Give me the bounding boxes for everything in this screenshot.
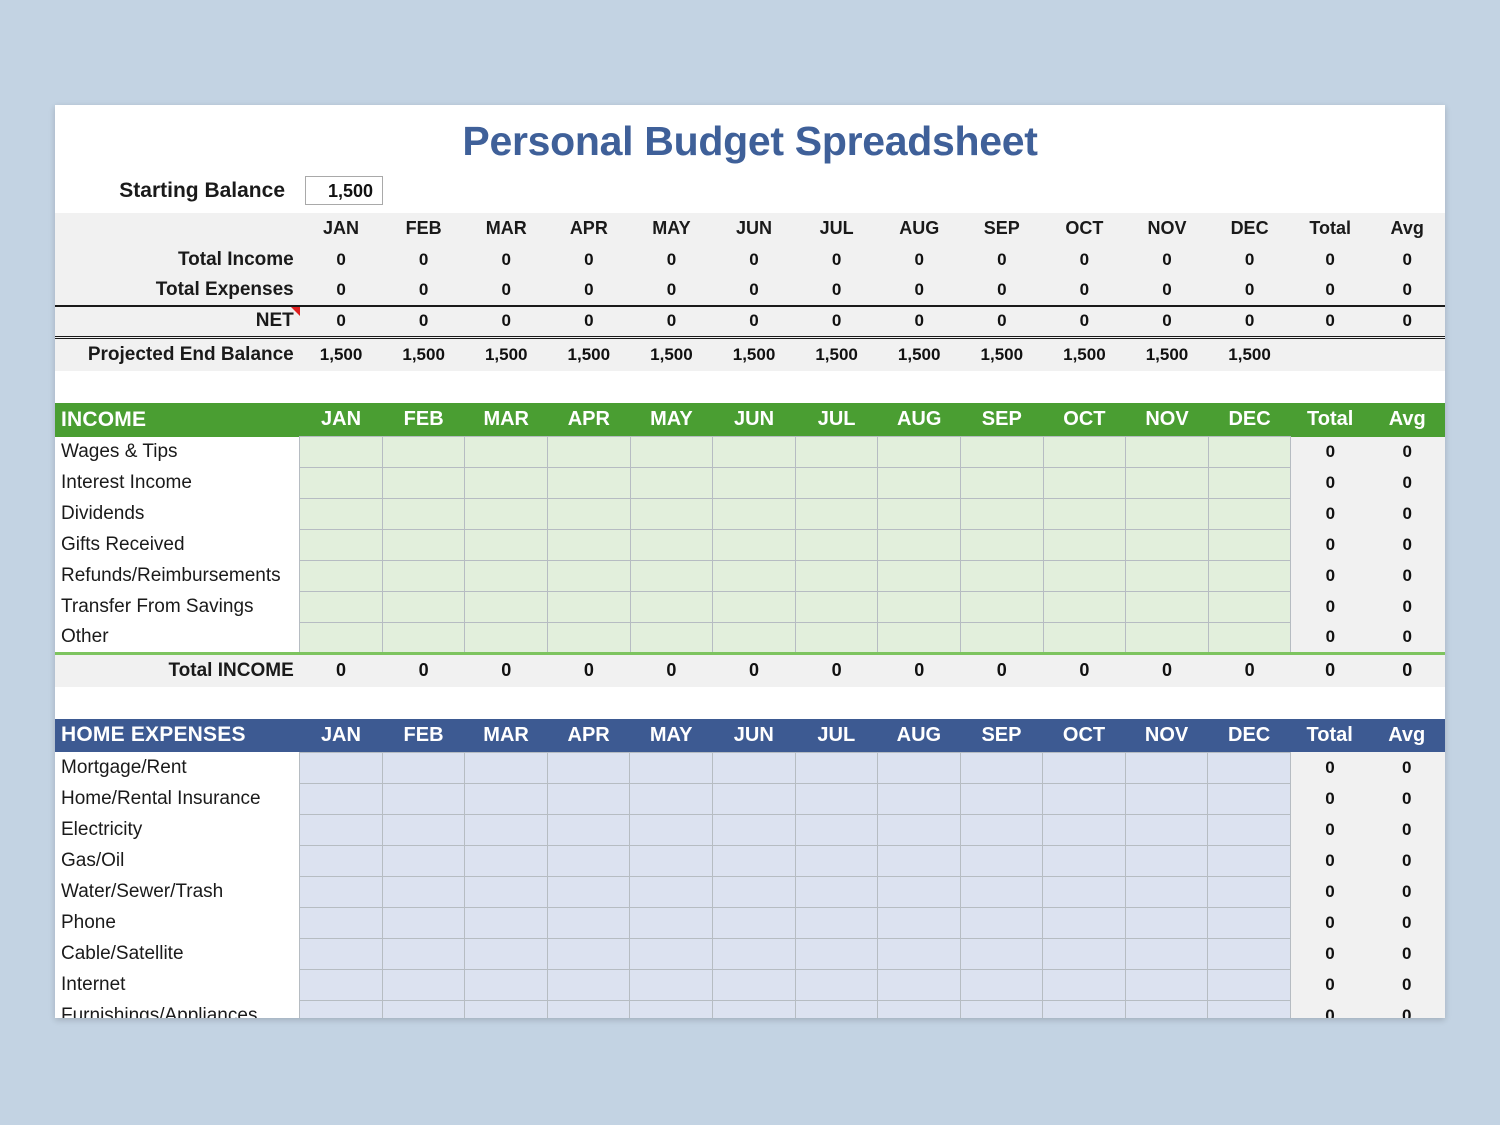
home-expenses-header-nov: NOV — [1125, 719, 1208, 753]
income-input-dec[interactable] — [1208, 499, 1291, 530]
home-expenses-input-nov[interactable] — [1125, 969, 1208, 1000]
home-expenses-input-jul[interactable] — [795, 938, 878, 969]
home-expenses-input-sep[interactable] — [960, 907, 1043, 938]
home-expenses-row-total: 0 — [1290, 969, 1369, 1000]
income-input-may[interactable] — [630, 592, 713, 623]
home-expenses-input-jul[interactable] — [795, 845, 878, 876]
income-input-aug[interactable] — [878, 592, 961, 623]
home-expenses-row-label: Cable/Satellite — [55, 938, 300, 969]
home-expenses-input-jun[interactable] — [712, 814, 795, 845]
income-input-jan[interactable] — [300, 468, 383, 499]
home-expenses-input-dec[interactable] — [1208, 783, 1291, 814]
income-input-oct[interactable] — [1043, 561, 1126, 592]
summary-cell-oct: 0 — [1043, 306, 1126, 337]
income-input-jun[interactable] — [713, 561, 796, 592]
income-total-label: Total INCOME — [55, 654, 300, 687]
summary-cell-avg: 0 — [1369, 275, 1445, 306]
home-expenses-input-feb[interactable] — [382, 876, 465, 907]
page-title: Personal Budget Spreadsheet — [55, 105, 1445, 171]
income-header-nov: NOV — [1126, 403, 1209, 437]
home-expenses-input-feb[interactable] — [382, 845, 465, 876]
table-row: Gifts Received00 — [55, 530, 1445, 561]
home-expenses-row-avg: 0 — [1369, 969, 1445, 1000]
home-expenses-input-nov[interactable] — [1125, 845, 1208, 876]
home-expenses-header-may: MAY — [630, 719, 713, 753]
home-expenses-input-may[interactable] — [630, 907, 713, 938]
home-expenses-input-may[interactable] — [630, 845, 713, 876]
income-input-mar[interactable] — [465, 530, 548, 561]
income-header-apr: APR — [548, 403, 631, 437]
home-expenses-row-total: 0 — [1290, 845, 1369, 876]
income-input-feb[interactable] — [382, 530, 465, 561]
home-expenses-input-nov[interactable] — [1125, 907, 1208, 938]
home-expenses-input-aug[interactable] — [878, 876, 961, 907]
income-input-jun[interactable] — [713, 437, 796, 468]
home-expenses-input-apr[interactable] — [547, 907, 630, 938]
home-expenses-input-oct[interactable] — [1043, 814, 1126, 845]
summary-cell-feb: 0 — [382, 306, 465, 337]
home-expenses-input-sep[interactable] — [960, 876, 1043, 907]
summary-cell-jul: 1,500 — [795, 337, 878, 371]
income-input-mar[interactable] — [465, 623, 548, 654]
income-input-jan[interactable] — [300, 499, 383, 530]
home-expenses-input-oct[interactable] — [1043, 876, 1126, 907]
income-input-oct[interactable] — [1043, 499, 1126, 530]
summary-row-total-income: Total Income00000000000000 — [55, 244, 1445, 275]
home-expenses-input-nov[interactable] — [1125, 783, 1208, 814]
home-expenses-input-jun[interactable] — [712, 938, 795, 969]
income-input-apr[interactable] — [548, 530, 631, 561]
avg-header: Avg — [1369, 213, 1445, 244]
income-header-may: MAY — [630, 403, 713, 437]
home-expenses-input-dec[interactable] — [1208, 814, 1291, 845]
summary-cell-feb: 1,500 — [382, 337, 465, 371]
income-row-label: Wages & Tips — [55, 437, 300, 468]
income-input-jan[interactable] — [300, 437, 383, 468]
income-row-avg: 0 — [1369, 437, 1445, 468]
income-input-mar[interactable] — [465, 437, 548, 468]
income-input-aug[interactable] — [878, 561, 961, 592]
income-input-dec[interactable] — [1208, 468, 1291, 499]
home-expenses-header-sep: SEP — [960, 719, 1043, 753]
income-input-oct[interactable] — [1043, 530, 1126, 561]
home-expenses-input-apr[interactable] — [547, 783, 630, 814]
income-input-sep[interactable] — [961, 623, 1044, 654]
income-input-apr[interactable] — [548, 592, 631, 623]
table-row: Dividends00 — [55, 499, 1445, 530]
income-header-total: Total — [1291, 403, 1370, 437]
home-expenses-input-mar[interactable] — [465, 969, 548, 1000]
income-input-dec[interactable] — [1208, 592, 1291, 623]
home-expenses-input-may[interactable] — [630, 969, 713, 1000]
home-expenses-row-total: 0 — [1290, 752, 1369, 783]
home-expenses-input-may[interactable] — [630, 876, 713, 907]
home-expenses-input-aug[interactable] — [878, 969, 961, 1000]
home-expenses-input-jul[interactable] — [795, 876, 878, 907]
home-expenses-input-sep[interactable] — [960, 814, 1043, 845]
home-expenses-input-feb[interactable] — [382, 969, 465, 1000]
home-expenses-input-sep[interactable] — [960, 938, 1043, 969]
income-total-sum: 0 — [1291, 654, 1370, 687]
income-input-jul[interactable] — [795, 499, 878, 530]
income-input-oct[interactable] — [1043, 592, 1126, 623]
home-expenses-section: HOME EXPENSESJANFEBMARAPRMAYJUNJULAUGSEP… — [55, 719, 1445, 1019]
income-input-jul[interactable] — [795, 530, 878, 561]
home-expenses-row-total: 0 — [1290, 876, 1369, 907]
home-expenses-input-feb[interactable] — [382, 783, 465, 814]
home-expenses-row-avg: 0 — [1369, 783, 1445, 814]
home-expenses-input-nov[interactable] — [1125, 1000, 1208, 1018]
income-input-nov[interactable] — [1126, 623, 1209, 654]
home-expenses-input-mar[interactable] — [465, 876, 548, 907]
income-input-nov[interactable] — [1126, 561, 1209, 592]
income-input-jan[interactable] — [300, 592, 383, 623]
home-expenses-input-apr[interactable] — [547, 1000, 630, 1018]
home-expenses-header-oct: OCT — [1043, 719, 1126, 753]
summary-cell-may: 0 — [630, 275, 713, 306]
home-expenses-input-mar[interactable] — [465, 1000, 548, 1018]
table-row: Water/Sewer/Trash00 — [55, 876, 1445, 907]
home-expenses-input-jan[interactable] — [300, 783, 383, 814]
summary-row-total-expenses: Total Expenses00000000000000 — [55, 275, 1445, 306]
income-total-sep: 0 — [961, 654, 1044, 687]
home-expenses-input-sep[interactable] — [960, 845, 1043, 876]
income-input-jul[interactable] — [795, 561, 878, 592]
table-row: Phone00 — [55, 907, 1445, 938]
income-input-feb[interactable] — [382, 468, 465, 499]
income-table: INCOMEJANFEBMARAPRMAYJUNJULAUGSEPOCTNOVD… — [55, 403, 1445, 687]
income-row-avg: 0 — [1369, 530, 1445, 561]
income-input-aug[interactable] — [878, 623, 961, 654]
section-gap-2 — [55, 687, 1445, 719]
summary-cell-apr: 1,500 — [548, 337, 631, 371]
summary-cell-jun: 0 — [713, 275, 796, 306]
summary-cell-jun: 1,500 — [713, 337, 796, 371]
home-expenses-input-oct[interactable] — [1043, 845, 1126, 876]
home-expenses-row-label: Mortgage/Rent — [55, 752, 300, 783]
income-header-title: INCOME — [55, 403, 300, 437]
home-expenses-row-label: Home/Rental Insurance — [55, 783, 300, 814]
income-total-apr: 0 — [548, 654, 631, 687]
home-expenses-input-oct[interactable] — [1043, 783, 1126, 814]
home-expenses-input-jun[interactable] — [712, 752, 795, 783]
summary-cell-sep: 1,500 — [961, 337, 1044, 371]
table-row: Transfer From Savings00 — [55, 592, 1445, 623]
income-input-mar[interactable] — [465, 468, 548, 499]
home-expenses-input-jul[interactable] — [795, 907, 878, 938]
income-input-aug[interactable] — [878, 437, 961, 468]
home-expenses-input-may[interactable] — [630, 938, 713, 969]
income-total-avg: 0 — [1369, 654, 1445, 687]
home-expenses-input-mar[interactable] — [465, 783, 548, 814]
income-input-sep[interactable] — [961, 468, 1044, 499]
income-input-jan[interactable] — [300, 561, 383, 592]
home-expenses-input-oct[interactable] — [1043, 907, 1126, 938]
table-row: Gas/Oil00 — [55, 845, 1445, 876]
home-expenses-input-oct[interactable] — [1043, 969, 1126, 1000]
summary-cell-may: 1,500 — [630, 337, 713, 371]
income-header-aug: AUG — [878, 403, 961, 437]
income-input-may[interactable] — [630, 499, 713, 530]
home-expenses-row-label: Furnishings/Appliances — [55, 1000, 300, 1018]
summary-cell-jul: 0 — [795, 306, 878, 337]
income-input-jul[interactable] — [795, 592, 878, 623]
summary-cell-aug: 0 — [878, 306, 961, 337]
home-expenses-input-dec[interactable] — [1208, 969, 1291, 1000]
home-expenses-header-title: HOME EXPENSES — [55, 719, 300, 753]
month-header-sep: SEP — [961, 213, 1044, 244]
table-row: Wages & Tips00 — [55, 437, 1445, 468]
income-input-oct[interactable] — [1043, 468, 1126, 499]
starting-balance-row: Starting Balance 1,500 — [55, 171, 1445, 213]
income-input-aug[interactable] — [878, 530, 961, 561]
home-expenses-input-jul[interactable] — [795, 814, 878, 845]
income-input-oct[interactable] — [1043, 437, 1126, 468]
home-expenses-input-feb[interactable] — [382, 752, 465, 783]
income-input-sep[interactable] — [961, 561, 1044, 592]
home-expenses-input-jan[interactable] — [300, 1000, 383, 1018]
income-input-jan[interactable] — [300, 623, 383, 654]
home-expenses-input-sep[interactable] — [960, 752, 1043, 783]
income-input-may[interactable] — [630, 437, 713, 468]
income-input-sep[interactable] — [961, 499, 1044, 530]
home-expenses-input-may[interactable] — [630, 1000, 713, 1018]
income-input-oct[interactable] — [1043, 623, 1126, 654]
home-expenses-header-dec: DEC — [1208, 719, 1291, 753]
home-expenses-input-jun[interactable] — [712, 876, 795, 907]
summary-row-label: NET — [55, 306, 300, 337]
home-expenses-row-label: Water/Sewer/Trash — [55, 876, 300, 907]
income-input-may[interactable] — [630, 530, 713, 561]
summary-cell-apr: 0 — [548, 306, 631, 337]
home-expenses-input-nov[interactable] — [1125, 752, 1208, 783]
starting-balance-input[interactable]: 1,500 — [305, 176, 383, 205]
home-expenses-input-dec[interactable] — [1208, 907, 1291, 938]
home-expenses-input-dec[interactable] — [1208, 938, 1291, 969]
income-input-feb[interactable] — [382, 499, 465, 530]
income-input-sep[interactable] — [961, 592, 1044, 623]
home-expenses-input-apr[interactable] — [547, 845, 630, 876]
home-expenses-input-may[interactable] — [630, 783, 713, 814]
summary-cell-may: 0 — [630, 244, 713, 275]
income-input-sep[interactable] — [961, 437, 1044, 468]
home-expenses-row-total: 0 — [1290, 1000, 1369, 1018]
home-expenses-input-jan[interactable] — [300, 876, 383, 907]
home-expenses-input-nov[interactable] — [1125, 876, 1208, 907]
income-row-avg: 0 — [1369, 468, 1445, 499]
income-input-may[interactable] — [630, 623, 713, 654]
income-total-oct: 0 — [1043, 654, 1126, 687]
income-total-aug: 0 — [878, 654, 961, 687]
home-expenses-input-jul[interactable] — [795, 969, 878, 1000]
income-input-may[interactable] — [630, 468, 713, 499]
home-expenses-input-oct[interactable] — [1043, 752, 1126, 783]
income-input-feb[interactable] — [382, 437, 465, 468]
home-expenses-input-apr[interactable] — [547, 814, 630, 845]
income-input-jun[interactable] — [713, 530, 796, 561]
home-expenses-input-aug[interactable] — [878, 783, 961, 814]
home-expenses-input-nov[interactable] — [1125, 814, 1208, 845]
income-input-jun[interactable] — [713, 592, 796, 623]
income-input-feb[interactable] — [382, 623, 465, 654]
home-expenses-input-mar[interactable] — [465, 938, 548, 969]
income-input-nov[interactable] — [1126, 530, 1209, 561]
month-header-dec: DEC — [1208, 213, 1291, 244]
home-expenses-input-aug[interactable] — [878, 938, 961, 969]
home-expenses-input-jun[interactable] — [712, 1000, 795, 1018]
home-expenses-input-aug[interactable] — [878, 845, 961, 876]
home-expenses-header-jun: JUN — [712, 719, 795, 753]
income-input-nov[interactable] — [1126, 499, 1209, 530]
summary-cell-sep: 0 — [961, 306, 1044, 337]
home-expenses-input-jul[interactable] — [795, 752, 878, 783]
home-expenses-input-apr[interactable] — [547, 876, 630, 907]
home-expenses-input-may[interactable] — [630, 752, 713, 783]
income-header-oct: OCT — [1043, 403, 1126, 437]
home-expenses-input-jan[interactable] — [300, 814, 383, 845]
income-row-total: 0 — [1291, 437, 1370, 468]
home-expenses-input-jan[interactable] — [300, 969, 383, 1000]
home-expenses-input-aug[interactable] — [878, 1000, 961, 1018]
home-expenses-row-avg: 0 — [1369, 845, 1445, 876]
home-expenses-input-aug[interactable] — [878, 752, 961, 783]
income-input-dec[interactable] — [1208, 623, 1291, 654]
income-input-may[interactable] — [630, 561, 713, 592]
home-expenses-input-dec[interactable] — [1208, 845, 1291, 876]
home-expenses-input-jun[interactable] — [712, 969, 795, 1000]
income-input-jun[interactable] — [713, 623, 796, 654]
income-header-avg: Avg — [1369, 403, 1445, 437]
home-expenses-row-label: Phone — [55, 907, 300, 938]
month-header-may: MAY — [630, 213, 713, 244]
income-input-dec[interactable] — [1208, 561, 1291, 592]
income-input-apr[interactable] — [548, 561, 631, 592]
income-input-mar[interactable] — [465, 499, 548, 530]
summary-cell-dec: 0 — [1208, 275, 1291, 306]
income-header-row: INCOMEJANFEBMARAPRMAYJUNJULAUGSEPOCTNOVD… — [55, 403, 1445, 437]
home-expenses-input-jun[interactable] — [712, 845, 795, 876]
income-input-jan[interactable] — [300, 530, 383, 561]
home-expenses-input-dec[interactable] — [1208, 752, 1291, 783]
table-row: Refunds/Reimbursements00 — [55, 561, 1445, 592]
home-expenses-input-feb[interactable] — [382, 1000, 465, 1018]
home-expenses-input-jan[interactable] — [300, 845, 383, 876]
summary-cell-total: 0 — [1291, 275, 1370, 306]
income-input-mar[interactable] — [465, 561, 548, 592]
total-header: Total — [1291, 213, 1370, 244]
home-expenses-input-oct[interactable] — [1043, 1000, 1126, 1018]
income-input-feb[interactable] — [382, 561, 465, 592]
home-expenses-input-jul[interactable] — [795, 1000, 878, 1018]
table-row: Interest Income00 — [55, 468, 1445, 499]
income-input-apr[interactable] — [548, 499, 631, 530]
home-expenses-input-may[interactable] — [630, 814, 713, 845]
home-expenses-input-apr[interactable] — [547, 938, 630, 969]
income-input-sep[interactable] — [961, 530, 1044, 561]
summary-cell-aug: 0 — [878, 275, 961, 306]
home-expenses-header-jan: JAN — [300, 719, 383, 753]
income-input-feb[interactable] — [382, 592, 465, 623]
home-expenses-input-feb[interactable] — [382, 938, 465, 969]
income-input-apr[interactable] — [548, 623, 631, 654]
home-expenses-input-mar[interactable] — [465, 907, 548, 938]
income-input-jul[interactable] — [795, 437, 878, 468]
income-total-jun: 0 — [713, 654, 796, 687]
income-input-nov[interactable] — [1126, 592, 1209, 623]
summary-cell-total: 0 — [1291, 244, 1370, 275]
summary-row-projected-end-balance: Projected End Balance1,5001,5001,5001,50… — [55, 337, 1445, 371]
home-expenses-input-feb[interactable] — [382, 814, 465, 845]
income-input-aug[interactable] — [878, 499, 961, 530]
summary-row-label: Projected End Balance — [55, 337, 300, 371]
home-expenses-input-aug[interactable] — [878, 907, 961, 938]
home-expenses-input-sep[interactable] — [960, 1000, 1043, 1018]
income-input-dec[interactable] — [1208, 437, 1291, 468]
home-expenses-input-sep[interactable] — [960, 783, 1043, 814]
home-expenses-input-dec[interactable] — [1208, 1000, 1291, 1018]
income-input-jun[interactable] — [713, 468, 796, 499]
income-input-mar[interactable] — [465, 592, 548, 623]
home-expenses-input-dec[interactable] — [1208, 876, 1291, 907]
income-row-label: Refunds/Reimbursements — [55, 561, 300, 592]
home-expenses-input-jan[interactable] — [300, 938, 383, 969]
table-row: Other00 — [55, 623, 1445, 654]
summary-cell-jun: 0 — [713, 306, 796, 337]
income-input-jul[interactable] — [795, 468, 878, 499]
income-row-label: Transfer From Savings — [55, 592, 300, 623]
income-input-nov[interactable] — [1126, 468, 1209, 499]
income-input-jun[interactable] — [713, 499, 796, 530]
home-expenses-input-mar[interactable] — [465, 814, 548, 845]
summary-cell-avg: 0 — [1369, 306, 1445, 337]
summary-cell-dec: 0 — [1208, 306, 1291, 337]
home-expenses-input-apr[interactable] — [547, 752, 630, 783]
income-input-apr[interactable] — [548, 468, 631, 499]
income-input-dec[interactable] — [1208, 530, 1291, 561]
income-input-aug[interactable] — [878, 468, 961, 499]
home-expenses-input-aug[interactable] — [878, 814, 961, 845]
home-expenses-input-apr[interactable] — [547, 969, 630, 1000]
income-input-nov[interactable] — [1126, 437, 1209, 468]
home-expenses-input-jul[interactable] — [795, 783, 878, 814]
summary-cell-oct: 0 — [1043, 244, 1126, 275]
home-expenses-input-nov[interactable] — [1125, 938, 1208, 969]
home-expenses-input-jun[interactable] — [712, 907, 795, 938]
home-expenses-header-aug: AUG — [878, 719, 961, 753]
month-header-aug: AUG — [878, 213, 961, 244]
home-expenses-input-jan[interactable] — [300, 907, 383, 938]
home-expenses-input-jan[interactable] — [300, 752, 383, 783]
home-expenses-input-sep[interactable] — [960, 969, 1043, 1000]
home-expenses-input-jun[interactable] — [712, 783, 795, 814]
section-gap — [55, 371, 1445, 403]
home-expenses-input-mar[interactable] — [465, 845, 548, 876]
summary-cell-jan: 0 — [300, 306, 383, 337]
income-total-nov: 0 — [1126, 654, 1209, 687]
home-expenses-input-feb[interactable] — [382, 907, 465, 938]
comment-marker-icon — [291, 307, 300, 316]
home-expenses-input-oct[interactable] — [1043, 938, 1126, 969]
home-expenses-header-total: Total — [1290, 719, 1369, 753]
home-expenses-row-avg: 0 — [1369, 938, 1445, 969]
home-expenses-input-mar[interactable] — [465, 752, 548, 783]
home-expenses-row-total: 0 — [1290, 814, 1369, 845]
income-input-jul[interactable] — [795, 623, 878, 654]
summary-cell-apr: 0 — [548, 275, 631, 306]
income-header-jun: JUN — [713, 403, 796, 437]
income-input-apr[interactable] — [548, 437, 631, 468]
summary-cell-nov: 1,500 — [1126, 337, 1209, 371]
